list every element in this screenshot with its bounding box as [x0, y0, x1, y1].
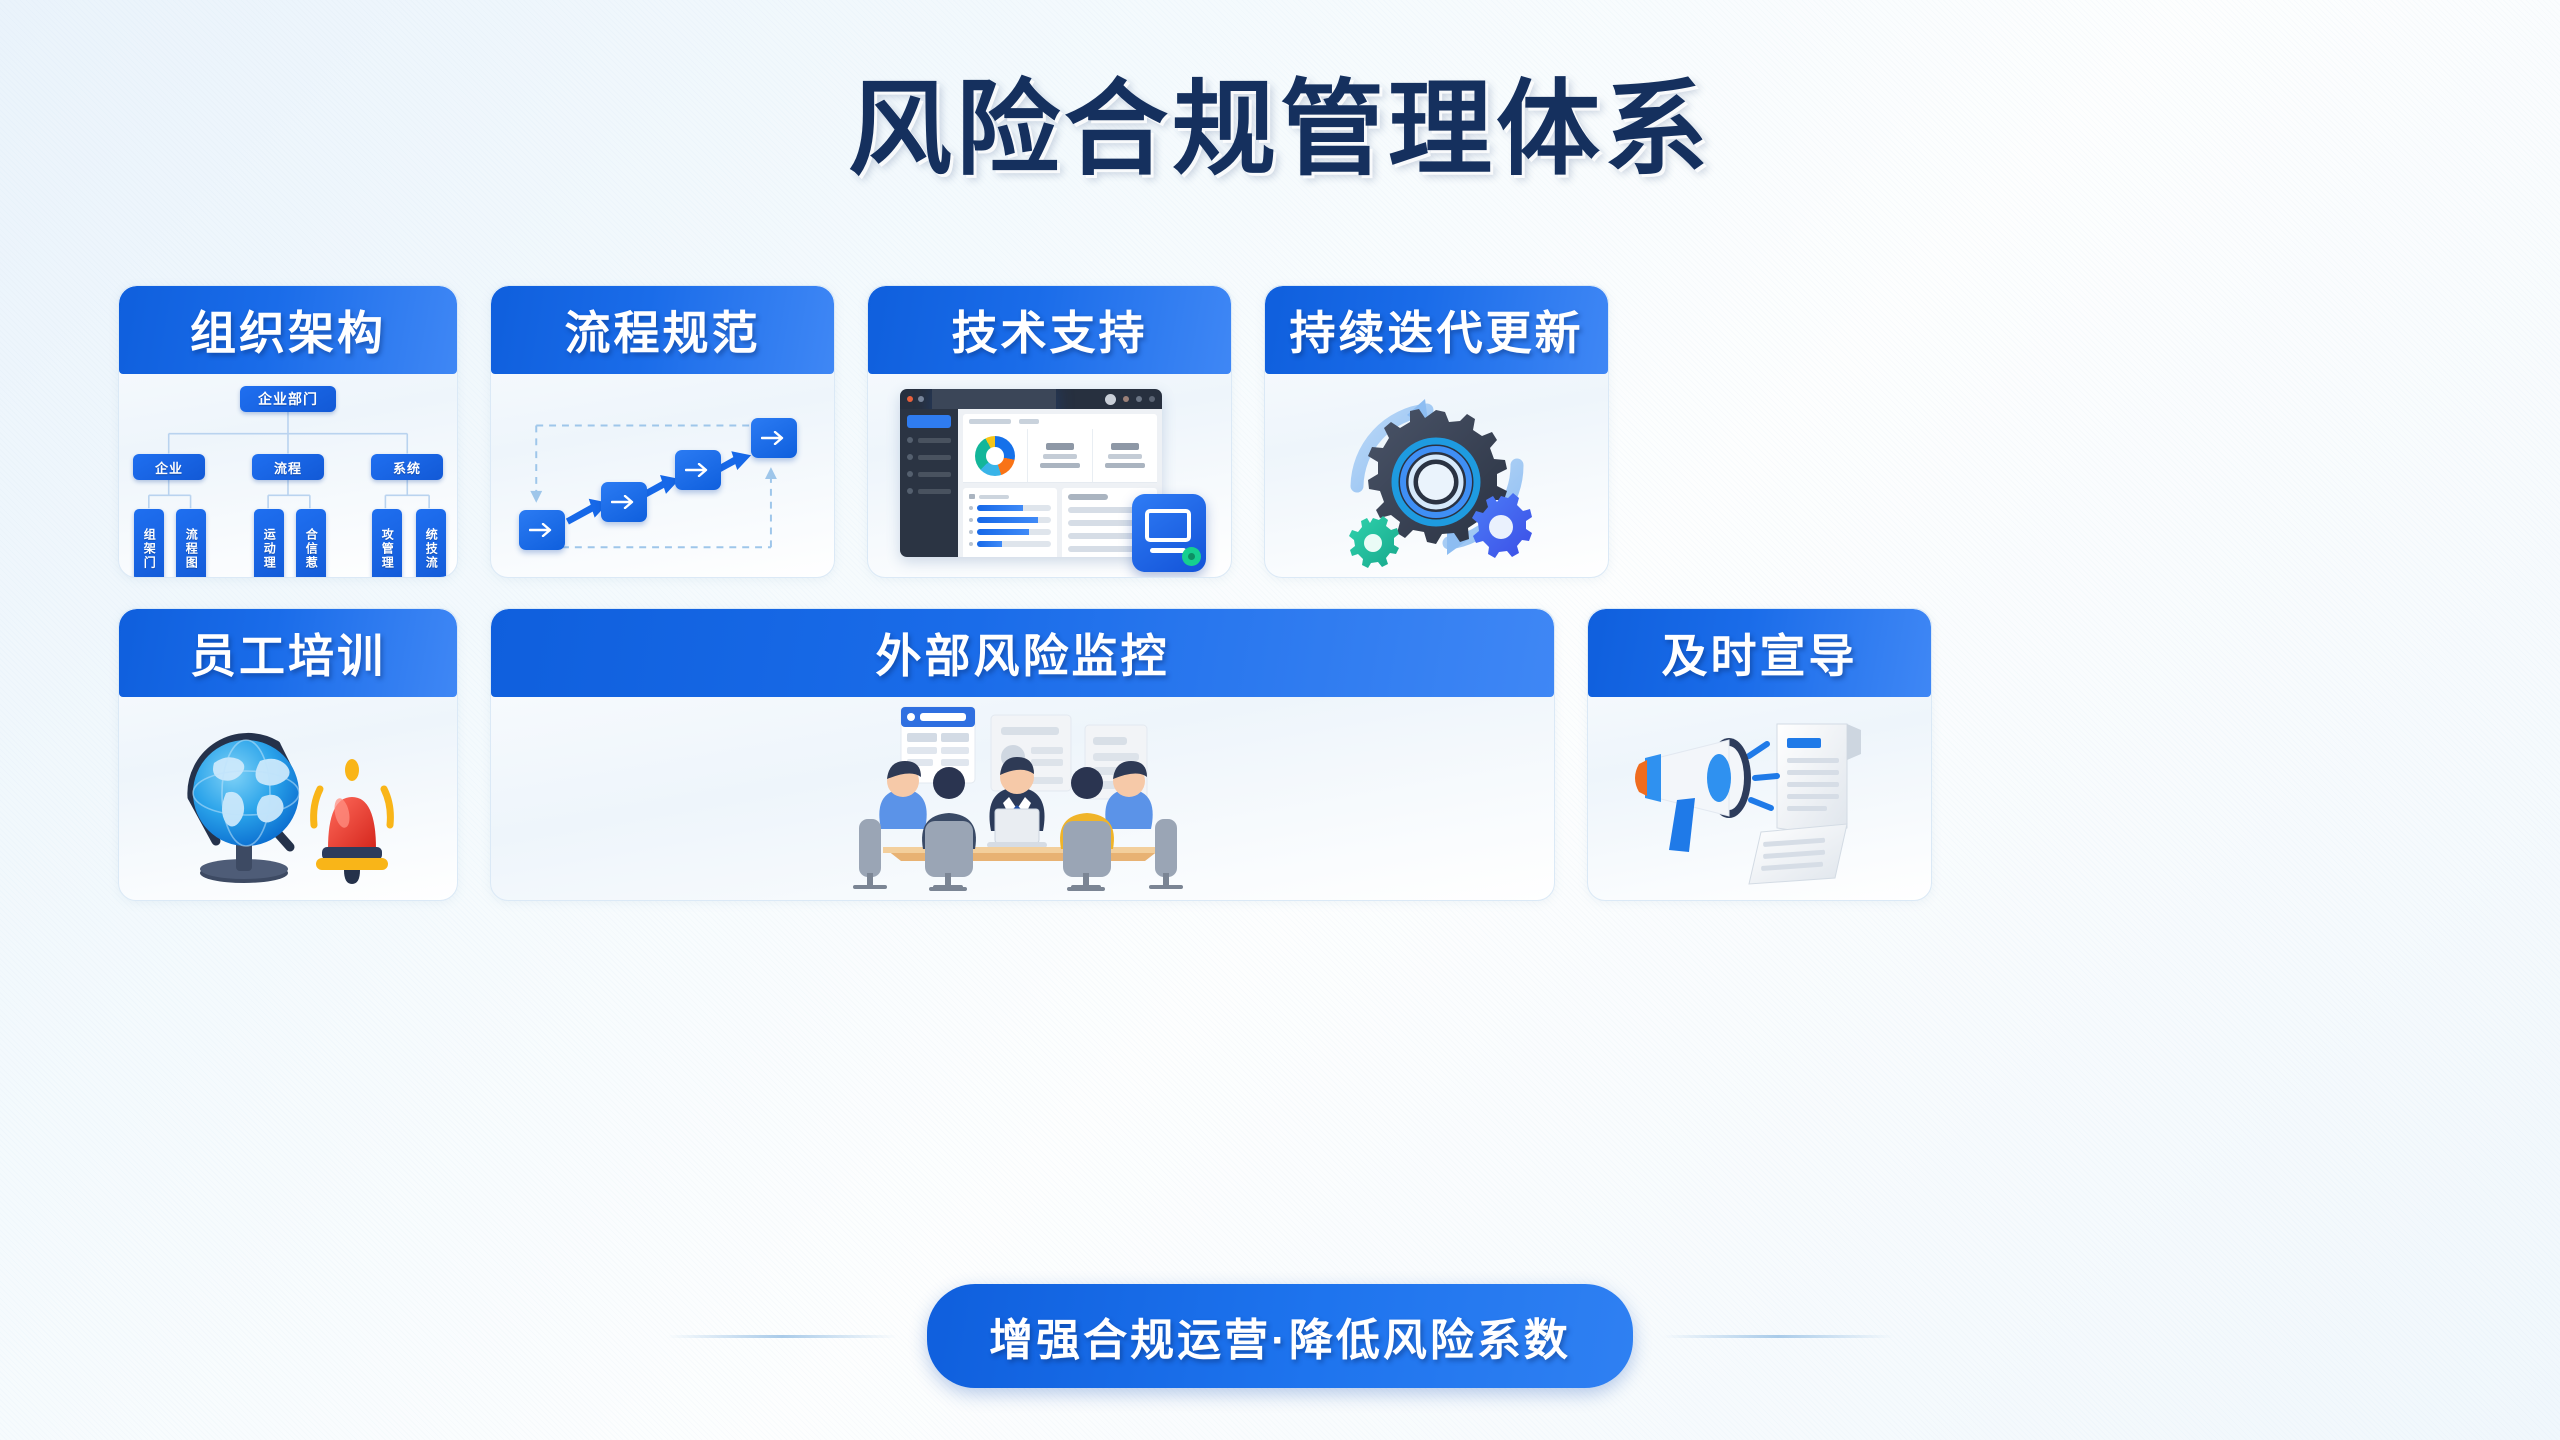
globe-icon	[193, 740, 299, 846]
bullet-icon	[969, 542, 973, 546]
gear-teal-icon	[1349, 516, 1399, 568]
org-node-root[interactable]: 企业部门	[240, 386, 336, 412]
dashboard-panels	[963, 488, 1157, 557]
window-title-bar	[900, 389, 1162, 409]
card-external-risk-monitoring[interactable]: 外部风险监控	[490, 608, 1555, 901]
card-title-external-risk-monitoring: 外部风险监控	[876, 620, 1170, 686]
org-node-leaf-4[interactable]: 攻管理	[372, 509, 402, 578]
page-header: 风险合规管理体系	[0, 44, 2560, 195]
panel-title	[979, 495, 1009, 499]
card-title-process-standard: 流程规范	[565, 297, 761, 363]
sidebar-item-4[interactable]	[900, 488, 958, 494]
dashboard-tabs[interactable]	[963, 414, 1157, 429]
sidebar-item-3[interactable]	[900, 471, 958, 477]
laptop-icon	[987, 809, 1047, 848]
progress-panel	[963, 488, 1058, 557]
arrow-right-icon	[529, 523, 555, 537]
stat-value	[1046, 443, 1074, 450]
progress-track	[977, 517, 1052, 523]
arrow-right-icon	[611, 495, 637, 509]
card-header-continuous-iteration: 持续迭代更新	[1265, 286, 1608, 374]
bullet-icon	[907, 454, 913, 460]
avatar-dot	[1105, 394, 1116, 405]
stat-card-2	[1028, 429, 1093, 482]
card-title-timely-advocacy: 及时宣导	[1662, 620, 1858, 686]
progress-track	[977, 529, 1052, 535]
card-process-standard[interactable]: 流程规范	[490, 285, 835, 578]
gears-refresh-illustration	[1329, 381, 1544, 571]
document-back-icon	[1749, 824, 1847, 884]
sidebar-item-1[interactable]	[900, 437, 958, 443]
flow-loop-arrow-up	[765, 467, 777, 479]
status-dot-2	[1136, 396, 1142, 402]
org-node-level2-2[interactable]: 系统	[371, 454, 443, 480]
stat-label	[1043, 454, 1077, 459]
progress-row	[969, 529, 1052, 535]
bullet-icon	[969, 530, 973, 534]
card-header-timely-advocacy: 及时宣导	[1588, 609, 1931, 697]
stat-subtext	[1105, 463, 1145, 468]
list-heading	[1068, 494, 1108, 500]
progress-fill	[977, 505, 1023, 511]
chair-right	[1151, 819, 1181, 887]
flow-loop-arrow-down	[530, 491, 542, 503]
window-minimize-dot	[918, 396, 924, 402]
progress-track	[977, 541, 1052, 547]
sound-wave-icon	[1749, 744, 1777, 808]
card-row-1: 组织架构 企业部门 企业 流程 系统	[118, 285, 2448, 578]
sidebar-item-2[interactable]	[900, 454, 958, 460]
card-title-org-structure: 组织架构	[190, 297, 386, 363]
card-body-tech-support	[868, 374, 1231, 577]
monitor-base	[1150, 548, 1186, 553]
monitor-status-led	[1182, 547, 1201, 566]
flow-step-1[interactable]	[519, 510, 565, 550]
card-header-staff-training: 员工培训	[119, 609, 457, 697]
card-tech-support[interactable]: 技术支持	[867, 285, 1232, 578]
bullet-icon	[969, 518, 973, 522]
flow-step-4[interactable]	[751, 418, 797, 458]
sidebar-item-active[interactable]	[907, 415, 951, 428]
status-dot-3	[1149, 396, 1155, 402]
panel-icon	[969, 494, 975, 499]
dashboard-window	[900, 389, 1162, 557]
progress-fill	[977, 541, 1002, 547]
org-node-leaf-0[interactable]: 组架门	[134, 509, 164, 578]
card-org-structure[interactable]: 组织架构 企业部门 企业 流程 系统	[118, 285, 458, 578]
card-header-process-standard: 流程规范	[491, 286, 834, 374]
card-body-external-risk-monitoring	[491, 697, 1554, 900]
progress-track	[977, 505, 1052, 511]
progress-fill	[977, 529, 1029, 535]
person-near-left	[922, 767, 976, 889]
donut-chart	[975, 436, 1015, 476]
arrow-right-icon	[685, 463, 711, 477]
dashboard-sidebar[interactable]	[900, 409, 958, 557]
card-staff-training[interactable]: 员工培训	[118, 608, 458, 901]
card-body-org-structure: 企业部门 企业 流程 系统 组架门 流程图 运动理 合信惹 攻管理 统技流	[119, 374, 457, 577]
card-title-tech-support: 技术支持	[952, 297, 1148, 363]
card-title-continuous-iteration: 持续迭代更新	[1290, 297, 1584, 363]
progress-row	[969, 505, 1052, 511]
org-node-leaf-2[interactable]: 运动理	[254, 509, 284, 578]
slogan-pill[interactable]: 增强合规运营·降低风险系数	[927, 1284, 1633, 1388]
stat-card-donut	[963, 429, 1028, 482]
monitor-icon	[1132, 494, 1206, 572]
dashboard-content	[958, 409, 1162, 557]
megaphone-icon	[1635, 738, 1751, 852]
panel-heading	[969, 494, 1052, 499]
status-dot-1	[1123, 396, 1129, 402]
card-continuous-iteration[interactable]: 持续迭代更新	[1264, 285, 1609, 578]
meeting-illustration	[773, 701, 1273, 896]
org-node-leaf-3[interactable]: 合信惹	[296, 509, 326, 578]
bullet-icon	[907, 437, 913, 443]
footer-banner: 增强合规运营·降低风险系数	[0, 1284, 2560, 1388]
stat-label	[1108, 454, 1142, 459]
flow-illustration	[491, 374, 834, 577]
org-chart-illustration: 企业部门 企业 流程 系统 组架门 流程图 运动理 合信惹 攻管理 统技流	[119, 374, 457, 577]
monitor-screen	[1145, 509, 1191, 542]
org-node-leaf-1[interactable]: 流程图	[176, 509, 206, 578]
stat-subtext	[1040, 463, 1080, 468]
card-grid: 组织架构 企业部门 企业 流程 系统	[118, 285, 2448, 901]
card-row-2: 员工培训	[118, 608, 2448, 901]
dashboard-illustration	[900, 383, 1200, 568]
card-header-external-risk-monitoring: 外部风险监控	[491, 609, 1554, 697]
slogan-text: 增强合规运营·降低风险系数	[989, 1316, 1571, 1365]
globe-alarm-illustration	[156, 701, 421, 896]
org-node-leaf-5[interactable]: 统技流	[416, 509, 446, 578]
page-title: 风险合规管理体系	[848, 44, 1712, 195]
chair-left	[855, 819, 885, 887]
window-close-dot	[907, 396, 913, 402]
progress-row	[969, 517, 1052, 523]
card-header-tech-support: 技术支持	[868, 286, 1231, 374]
alarm-bell-icon	[313, 759, 390, 884]
card-body-process-standard	[491, 374, 834, 577]
card-body-timely-advocacy	[1588, 697, 1931, 900]
person-far-left	[879, 761, 926, 829]
card-header-org-structure: 组织架构	[119, 286, 457, 374]
tab-1[interactable]	[969, 419, 1011, 424]
sidebar-item-label	[918, 455, 951, 460]
megaphone-documents-illustration	[1635, 706, 1885, 891]
flow-step-2[interactable]	[601, 482, 647, 522]
org-node-level2-1[interactable]: 流程	[252, 454, 324, 480]
dashboard-stat-row	[963, 429, 1157, 483]
card-body-continuous-iteration	[1265, 374, 1608, 577]
sidebar-item-label	[918, 489, 951, 494]
card-timely-advocacy[interactable]: 及时宣导	[1587, 608, 1932, 901]
arrow-right-icon	[761, 431, 787, 445]
document-icon	[1777, 724, 1861, 836]
flow-step-3[interactable]	[675, 450, 721, 490]
divider-line-right	[1663, 1335, 1893, 1338]
bullet-icon	[907, 471, 913, 477]
org-node-level2-0[interactable]: 企业	[133, 454, 205, 480]
progress-fill	[977, 517, 1038, 523]
stat-card-3	[1093, 429, 1157, 482]
bullet-icon	[969, 506, 973, 510]
stat-value	[1111, 443, 1139, 450]
card-body-staff-training	[119, 697, 457, 900]
sidebar-item-label	[918, 438, 951, 443]
window-main	[900, 409, 1162, 557]
sidebar-item-label	[918, 472, 951, 477]
divider-line-left	[667, 1335, 897, 1338]
progress-row	[969, 541, 1052, 547]
card-title-staff-training: 员工培训	[190, 620, 386, 686]
bullet-icon	[907, 488, 913, 494]
window-right-controls	[1105, 394, 1155, 405]
tab-2[interactable]	[1019, 419, 1039, 424]
